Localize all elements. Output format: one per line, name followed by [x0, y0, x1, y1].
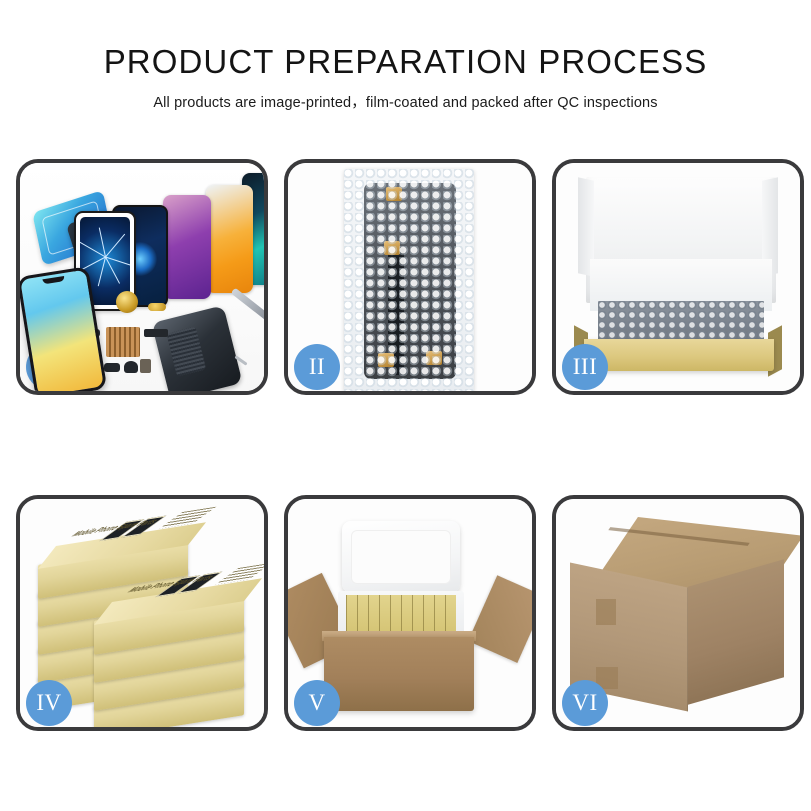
- box-spec-lines: [215, 563, 264, 585]
- sealed-carton: [570, 517, 788, 713]
- component-icon: [104, 363, 120, 372]
- stacked-box-top: Mobile Phone Spare Parts: [38, 522, 206, 569]
- product-preparation-infographic: PRODUCT PREPARATION PROCESS All products…: [0, 0, 811, 811]
- process-step-5: V: [284, 495, 536, 731]
- component-icon: [144, 329, 168, 337]
- connector-icon: [384, 241, 400, 255]
- box-front-panel: [584, 339, 774, 371]
- step-badge-4: IV: [26, 680, 72, 726]
- process-step-6: VI: [552, 495, 804, 731]
- page-title: PRODUCT PREPARATION PROCESS: [0, 0, 811, 80]
- foam-box-lid: [342, 521, 460, 593]
- step-badge-2: II: [294, 344, 340, 390]
- step-badge-3: III: [562, 344, 608, 390]
- phone-purple-icon: [163, 195, 211, 299]
- carton-flap-right: [468, 575, 532, 663]
- process-step-grid: I II: [16, 159, 804, 731]
- speaker-component-icon: [116, 291, 138, 313]
- phone-orange-icon: [206, 185, 253, 293]
- wrapped-screen: [364, 183, 456, 379]
- step-badge-5: V: [294, 680, 340, 726]
- battery-icon: [140, 359, 151, 373]
- process-step-2: II: [284, 159, 536, 395]
- step-badge-6: VI: [562, 680, 608, 726]
- process-step-4: Mobile Phone Spare Parts: [16, 495, 268, 731]
- bubble-wrap-bag: [344, 169, 474, 391]
- header: PRODUCT PREPARATION PROCESS All products…: [0, 0, 811, 112]
- process-step-1: I: [16, 159, 268, 395]
- connector-icon: [378, 353, 394, 367]
- component-icon: [148, 303, 166, 311]
- box-spec-lines: [159, 507, 216, 529]
- phone-parts-collage-scene: [20, 163, 264, 391]
- carton-tape-upper: [596, 599, 616, 625]
- ic-chip-icon: [106, 327, 140, 357]
- connector-icon: [426, 351, 442, 365]
- page-subtitle: All products are image-printed，film-coat…: [0, 80, 811, 112]
- process-step-3: III: [552, 159, 804, 395]
- process-step-1-image: [20, 163, 264, 391]
- camera-module-icon: [124, 361, 138, 373]
- carton-front-panel: [324, 637, 474, 711]
- connector-icon: [386, 187, 402, 201]
